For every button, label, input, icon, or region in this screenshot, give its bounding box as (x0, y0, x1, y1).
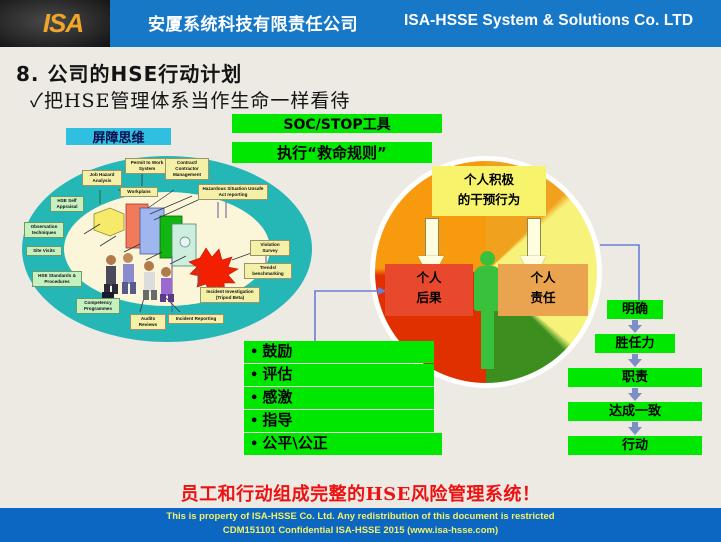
diagram-label-job-hazard-analysis: Job Hazard Analysis (82, 170, 122, 186)
bullet-dot-icon: • (250, 368, 258, 383)
personal-responsibility-line1: 个人 (498, 268, 588, 288)
diagram-label-audits-reviews: Audits Reviews (130, 314, 166, 330)
barrier-thinking-label: 屏障思维 (92, 127, 144, 146)
slide-canvas: ISA 安厦系统科技有限责任公司 ISA-HSSE System & Solut… (0, 0, 721, 542)
isa-logo: ISA (28, 8, 98, 38)
page-subtitle: ✓把HSE管理体系当作生命一样看待 (30, 86, 350, 113)
bullet-label: 鼓励 (262, 342, 292, 360)
diagram-label-hse-self-appraisal: HSE Self Appraisal (50, 196, 84, 212)
arrow-stem (425, 218, 439, 259)
wheel-person-figure (474, 251, 500, 371)
isa-logo-text: ISA (28, 8, 98, 38)
action-bullet-list: •鼓励 •评估 •感激 •指导 •公平\公正 (244, 341, 434, 456)
soc-stop-tool-box: SOC/STOP工具 (232, 114, 442, 133)
arrow-tip (628, 393, 642, 401)
personal-consequence-box: 个人 后果 (385, 264, 473, 316)
person-body (474, 266, 501, 311)
wheel-title-box: 个人积极 的干预行为 (432, 166, 546, 216)
diagram-label-permit-to-work: Permit to Work System (125, 158, 169, 174)
bullet-dot-icon: • (250, 414, 258, 429)
diagram-label-observation-techniques: Observation techniques (24, 222, 64, 238)
diagram-label-hazardous-situation-reporting: Hazardous Situation Unsafe Act reporting (198, 184, 268, 200)
slide-footer: This is property of ISA-HSSE Co. Ltd. An… (0, 508, 721, 542)
bullet-dot-icon: • (250, 437, 258, 452)
diagram-label-trends-benchmarking: Trends/ benchmarking (244, 263, 292, 279)
flow-step-box: 胜任力 (595, 334, 675, 353)
list-item: •感激 (244, 387, 434, 409)
footer-copyright-line: This is property of ISA-HSSE Co. Ltd. An… (0, 511, 721, 522)
footer-confidential-line: CDM151101 Confidential ISA-HSSE 2015 (ww… (0, 525, 721, 536)
bullet-dot-icon: • (250, 391, 258, 406)
bullet-label: 评估 (262, 365, 292, 383)
wheel-title-line2: 的干预行为 (434, 190, 544, 210)
barrier-thinking-heading: 屏障思维 (66, 128, 171, 145)
bullet-dot-icon: • (250, 345, 258, 360)
person-head (480, 251, 495, 266)
list-item: •鼓励 (244, 341, 434, 363)
flow-step-box: 职责 (568, 368, 702, 387)
bottom-message: 员工和行动组成完整的HSE风险管理系统！ (0, 480, 721, 506)
header-company-name-cn: 安厦系统科技有限责任公司 (148, 10, 358, 35)
arrow-tip (628, 427, 642, 435)
diagram-label-workplans: Workplans (120, 187, 158, 197)
diagram-label-competency-programmes: Competency Programmes (76, 298, 120, 314)
diagram-label-incident-reporting: Incident Reporting (168, 314, 224, 324)
person-legs (481, 307, 494, 369)
flow-step-box: 行动 (568, 436, 702, 455)
list-item: •评估 (244, 364, 434, 386)
diagram-label-contractor-management: Contract/ Contractor Management (165, 158, 209, 180)
list-item: •公平\公正 (244, 433, 442, 455)
diagram-label-hse-standards-procedures: HSE Standards & Procedures (32, 271, 82, 287)
barrier-thinking-diagram: Job Hazard Analysis Permit to Work Syste… (22, 156, 312, 342)
flow-step-box: 明确 (607, 300, 663, 319)
bullet-label: 感激 (262, 388, 292, 406)
personal-consequence-line1: 个人 (385, 268, 473, 288)
personal-consequence-line2: 后果 (385, 288, 473, 308)
bullet-label: 公平\公正 (262, 434, 327, 452)
flow-arrow-down-icon (628, 354, 642, 367)
flow-step-box: 达成一致 (568, 402, 702, 421)
diagram-label-incident-investigation: Incident Investigation (Tripod Beta) (200, 287, 260, 303)
bullet-label: 指导 (262, 411, 292, 429)
page-title: 8. 公司的HSE行动计划 (16, 58, 242, 87)
slide-header: ISA 安厦系统科技有限责任公司 ISA-HSSE System & Solut… (0, 0, 721, 47)
arrow-tip (628, 359, 642, 367)
flow-arrow-down-icon (628, 388, 642, 401)
arrow-tip (628, 325, 642, 333)
flow-arrow-down-icon (628, 320, 642, 333)
header-company-name-en: ISA-HSSE System & Solutions Co. LTD (404, 12, 693, 30)
flow-arrow-down-icon (628, 422, 642, 435)
diagram-label-site-visits: Site Visits (26, 246, 62, 256)
competence-flow-column: 明确 胜任力 职责 达成一致 行动 (560, 300, 710, 455)
list-item: •指导 (244, 410, 434, 432)
diagram-label-violation-survey: Violation Survey (250, 240, 290, 256)
arrow-stem (527, 218, 541, 259)
wheel-title-line1: 个人积极 (434, 170, 544, 190)
